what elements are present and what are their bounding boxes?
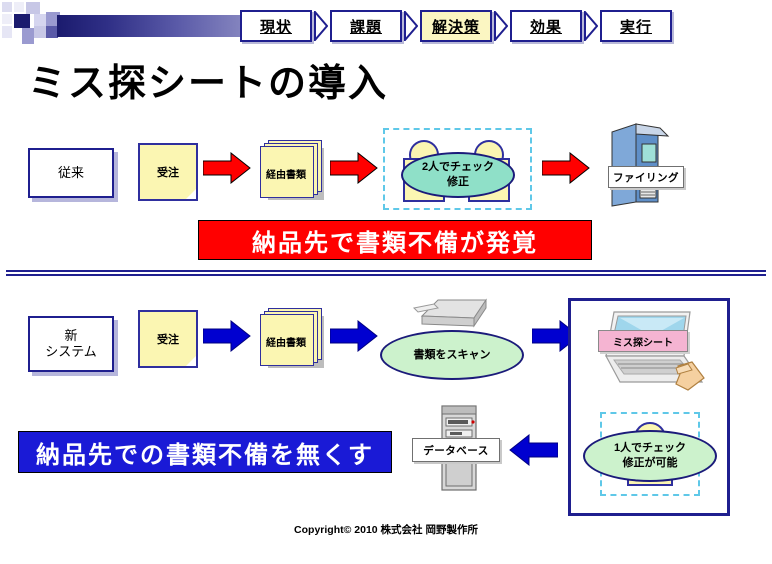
row-old-arrow-1 (203, 152, 251, 189)
deco-square (2, 26, 12, 38)
row-new-check-bubble-line1: 1人でチェック (614, 441, 686, 456)
filing-binder-icon (598, 122, 688, 208)
nav-step-kaiketsusaku[interactable]: 解決策 (420, 10, 492, 42)
filing-label: ファイリング (608, 166, 684, 188)
row-old-order-note-label: 受注 (157, 164, 179, 180)
row-new-label-box: 新 システム (28, 316, 114, 372)
nav-step-label: 実行 (620, 16, 652, 37)
deco-square (34, 14, 46, 26)
deco-square (14, 14, 30, 28)
copyright-footer: Copyright© 2010 株式会社 岡野製作所 (0, 522, 772, 537)
row-new-scan-bubble-text: 書類をスキャン (414, 348, 491, 363)
row-old-arrow-2 (330, 152, 378, 189)
decorative-mosaic-bar (0, 2, 250, 46)
row-old-documents: 経由書類 (258, 138, 330, 200)
section-divider (6, 270, 766, 276)
database-label-text: データベース (423, 443, 488, 458)
problem-banner: 納品先で書類不備が発覚 (198, 220, 592, 260)
row-old-documents-label: 経由書類 (250, 166, 322, 181)
row-new-check-bubble-line2: 修正が可能 (623, 456, 678, 471)
row-old-check-bubble: 2人でチェック 修正 (401, 152, 515, 198)
row-new-label-line2: システム (45, 344, 97, 360)
note-fold-inner-icon (186, 189, 196, 199)
nav-step-label: 効果 (530, 16, 562, 37)
row-old-check-bubble-line1: 2人でチェック (422, 160, 494, 175)
divider-line-top (6, 270, 766, 272)
problem-banner-text: 納品先で書類不備が発覚 (252, 223, 538, 258)
row-old-order-note: 受注 (138, 143, 198, 201)
gradient-bar (57, 15, 257, 37)
nav-step-jikkou[interactable]: 実行 (600, 10, 672, 42)
row-new-arrow-4 (508, 434, 558, 471)
row-new-documents-label: 経由書類 (250, 334, 322, 349)
row-new-label-line1: 新 (64, 328, 77, 344)
deco-square (34, 26, 46, 38)
scanner-icon (412, 294, 496, 334)
row-old-check-bubble-line2: 修正 (447, 175, 469, 190)
row-old-label-box: 従来 (28, 148, 114, 198)
row-old-label: 従来 (58, 165, 84, 181)
row-new-order-note: 受注 (138, 310, 198, 368)
nav-step-label: 現状 (260, 16, 292, 37)
nav-step-label: 課題 (350, 16, 382, 37)
solution-banner: 納品先での書類不備を無くす (18, 431, 392, 473)
step-navigation: 現状 課題 解決策 効果 実行 (240, 10, 674, 42)
chevron-right-icon (404, 11, 418, 41)
deco-square (22, 28, 34, 44)
row-new-check-bubble: 1人でチェック 修正が可能 (583, 430, 717, 482)
deco-square (26, 2, 40, 14)
database-label: データベース (412, 438, 500, 462)
row-new-scan-bubble: 書類をスキャン (380, 330, 524, 380)
chevron-right-icon (584, 11, 598, 41)
nav-step-kouka[interactable]: 効果 (510, 10, 582, 42)
chevron-right-icon (314, 11, 328, 41)
row-new-arrow-1 (203, 320, 251, 357)
sheet-label-text: ミス探シート (613, 334, 673, 349)
slide-canvas: 現状 課題 解決策 効果 実行 ミス探シートの導入 従来 (0, 0, 772, 564)
divider-line-bottom (6, 274, 766, 276)
row-new-documents: 経由書類 (258, 306, 330, 368)
filing-label-text: ファイリング (613, 170, 679, 185)
solution-banner-text: 納品先での書類不備を無くす (36, 435, 374, 470)
deco-square (2, 2, 12, 12)
row-old-arrow-3 (542, 152, 590, 189)
nav-step-genjou[interactable]: 現状 (240, 10, 312, 42)
row-new-arrow-2 (330, 320, 378, 357)
deco-square (14, 2, 24, 12)
nav-step-kadai[interactable]: 課題 (330, 10, 402, 42)
page-title: ミス探シートの導入 (28, 52, 388, 107)
chevron-right-icon (494, 11, 508, 41)
nav-step-label: 解決策 (432, 16, 480, 37)
laptop-icon (592, 308, 710, 396)
note-fold-inner-icon (186, 356, 196, 366)
deco-square (2, 14, 12, 24)
sheet-label: ミス探シート (598, 330, 688, 352)
row-new-order-note-label: 受注 (157, 331, 179, 347)
